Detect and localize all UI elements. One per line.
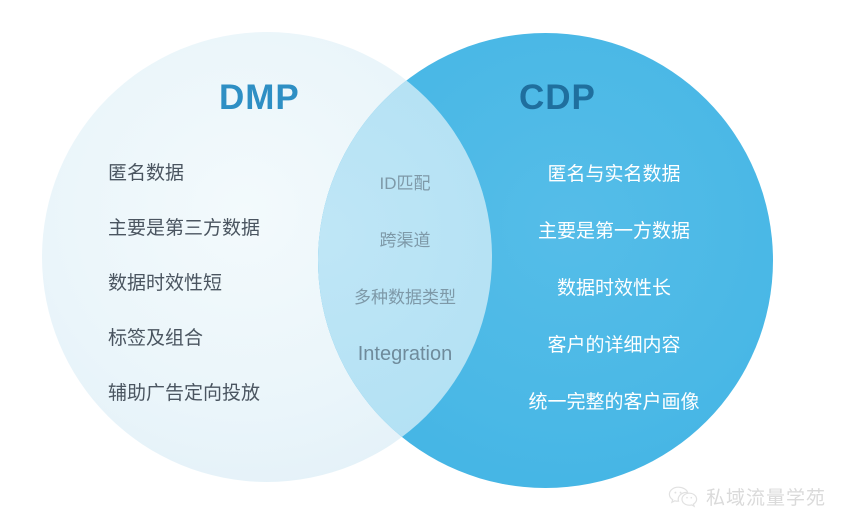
- wechat-icon: [668, 485, 698, 509]
- list-item: 数据时效性长: [557, 260, 671, 317]
- list-item: 客户的详细内容: [547, 317, 680, 374]
- watermark-text: 私域流量学苑: [706, 483, 826, 510]
- venn-diagram-canvas: DMP CDP 匿名数据 主要是第三方数据 数据时效性短 标签及组合 辅助广告定…: [0, 0, 864, 529]
- list-item: 辅助广告定向投放: [108, 366, 260, 421]
- list-item: 主要是第一方数据: [538, 203, 690, 260]
- left-circle-item-list: 匿名数据 主要是第三方数据 数据时效性短 标签及组合 辅助广告定向投放: [108, 146, 323, 421]
- list-item: 匿名与实名数据: [547, 146, 680, 203]
- list-item: 数据时效性短: [108, 256, 222, 311]
- list-item: ID匹配: [380, 155, 431, 212]
- left-circle-title: DMP: [219, 78, 300, 118]
- list-item: 标签及组合: [108, 311, 203, 366]
- list-item: 主要是第三方数据: [108, 201, 260, 256]
- right-circle-title: CDP: [519, 78, 596, 118]
- list-item: 跨渠道: [380, 212, 431, 269]
- list-item: 统一完整的客户画像: [528, 374, 699, 431]
- right-circle-item-list: 匿名与实名数据 主要是第一方数据 数据时效性长 客户的详细内容 统一完整的客户画…: [489, 146, 739, 431]
- list-item: 匿名数据: [108, 146, 184, 201]
- list-item: Integration: [358, 326, 453, 383]
- list-item: 多种数据类型: [354, 269, 456, 326]
- overlap-item-list: ID匹配 跨渠道 多种数据类型 Integration: [330, 155, 480, 383]
- watermark: 私域流量学苑: [668, 483, 826, 510]
